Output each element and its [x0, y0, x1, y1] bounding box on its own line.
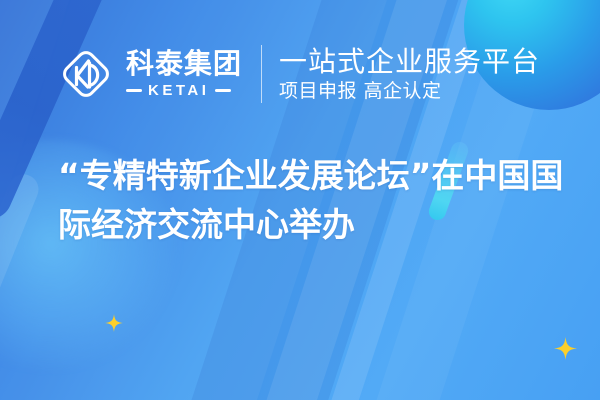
gold-sparkle-right: [554, 337, 577, 360]
vertical-divider: [261, 45, 262, 103]
logo-rule-left-icon: [126, 89, 142, 92]
tagline-block: 一站式企业服务平台 项目申报 高企认定: [279, 45, 540, 104]
logo-name-en: KETAI: [148, 82, 209, 99]
logo-name-en-row: KETAI: [126, 82, 242, 99]
page-title: “专精特新企业发展论坛”在中国国际经济交流中心举办: [58, 152, 568, 250]
gold-sparkle-left: [105, 314, 123, 332]
tagline-sub: 项目申报 高企认定: [279, 79, 540, 104]
logo-rule-right-icon: [215, 89, 231, 92]
tagline-main: 一站式企业服务平台: [279, 45, 540, 78]
logo-wordmark: 科泰集团 KETAI: [126, 49, 242, 98]
banner-header: 科泰集团 KETAI 一站式企业服务平台 项目申报 高企认定: [55, 38, 540, 110]
logo-name-cn: 科泰集团: [126, 49, 242, 78]
ketai-diamond-monogram-logo-icon: [55, 43, 117, 105]
promo-banner: 科泰集团 KETAI 一站式企业服务平台 项目申报 高企认定 “专精特新企业发展…: [0, 0, 600, 400]
